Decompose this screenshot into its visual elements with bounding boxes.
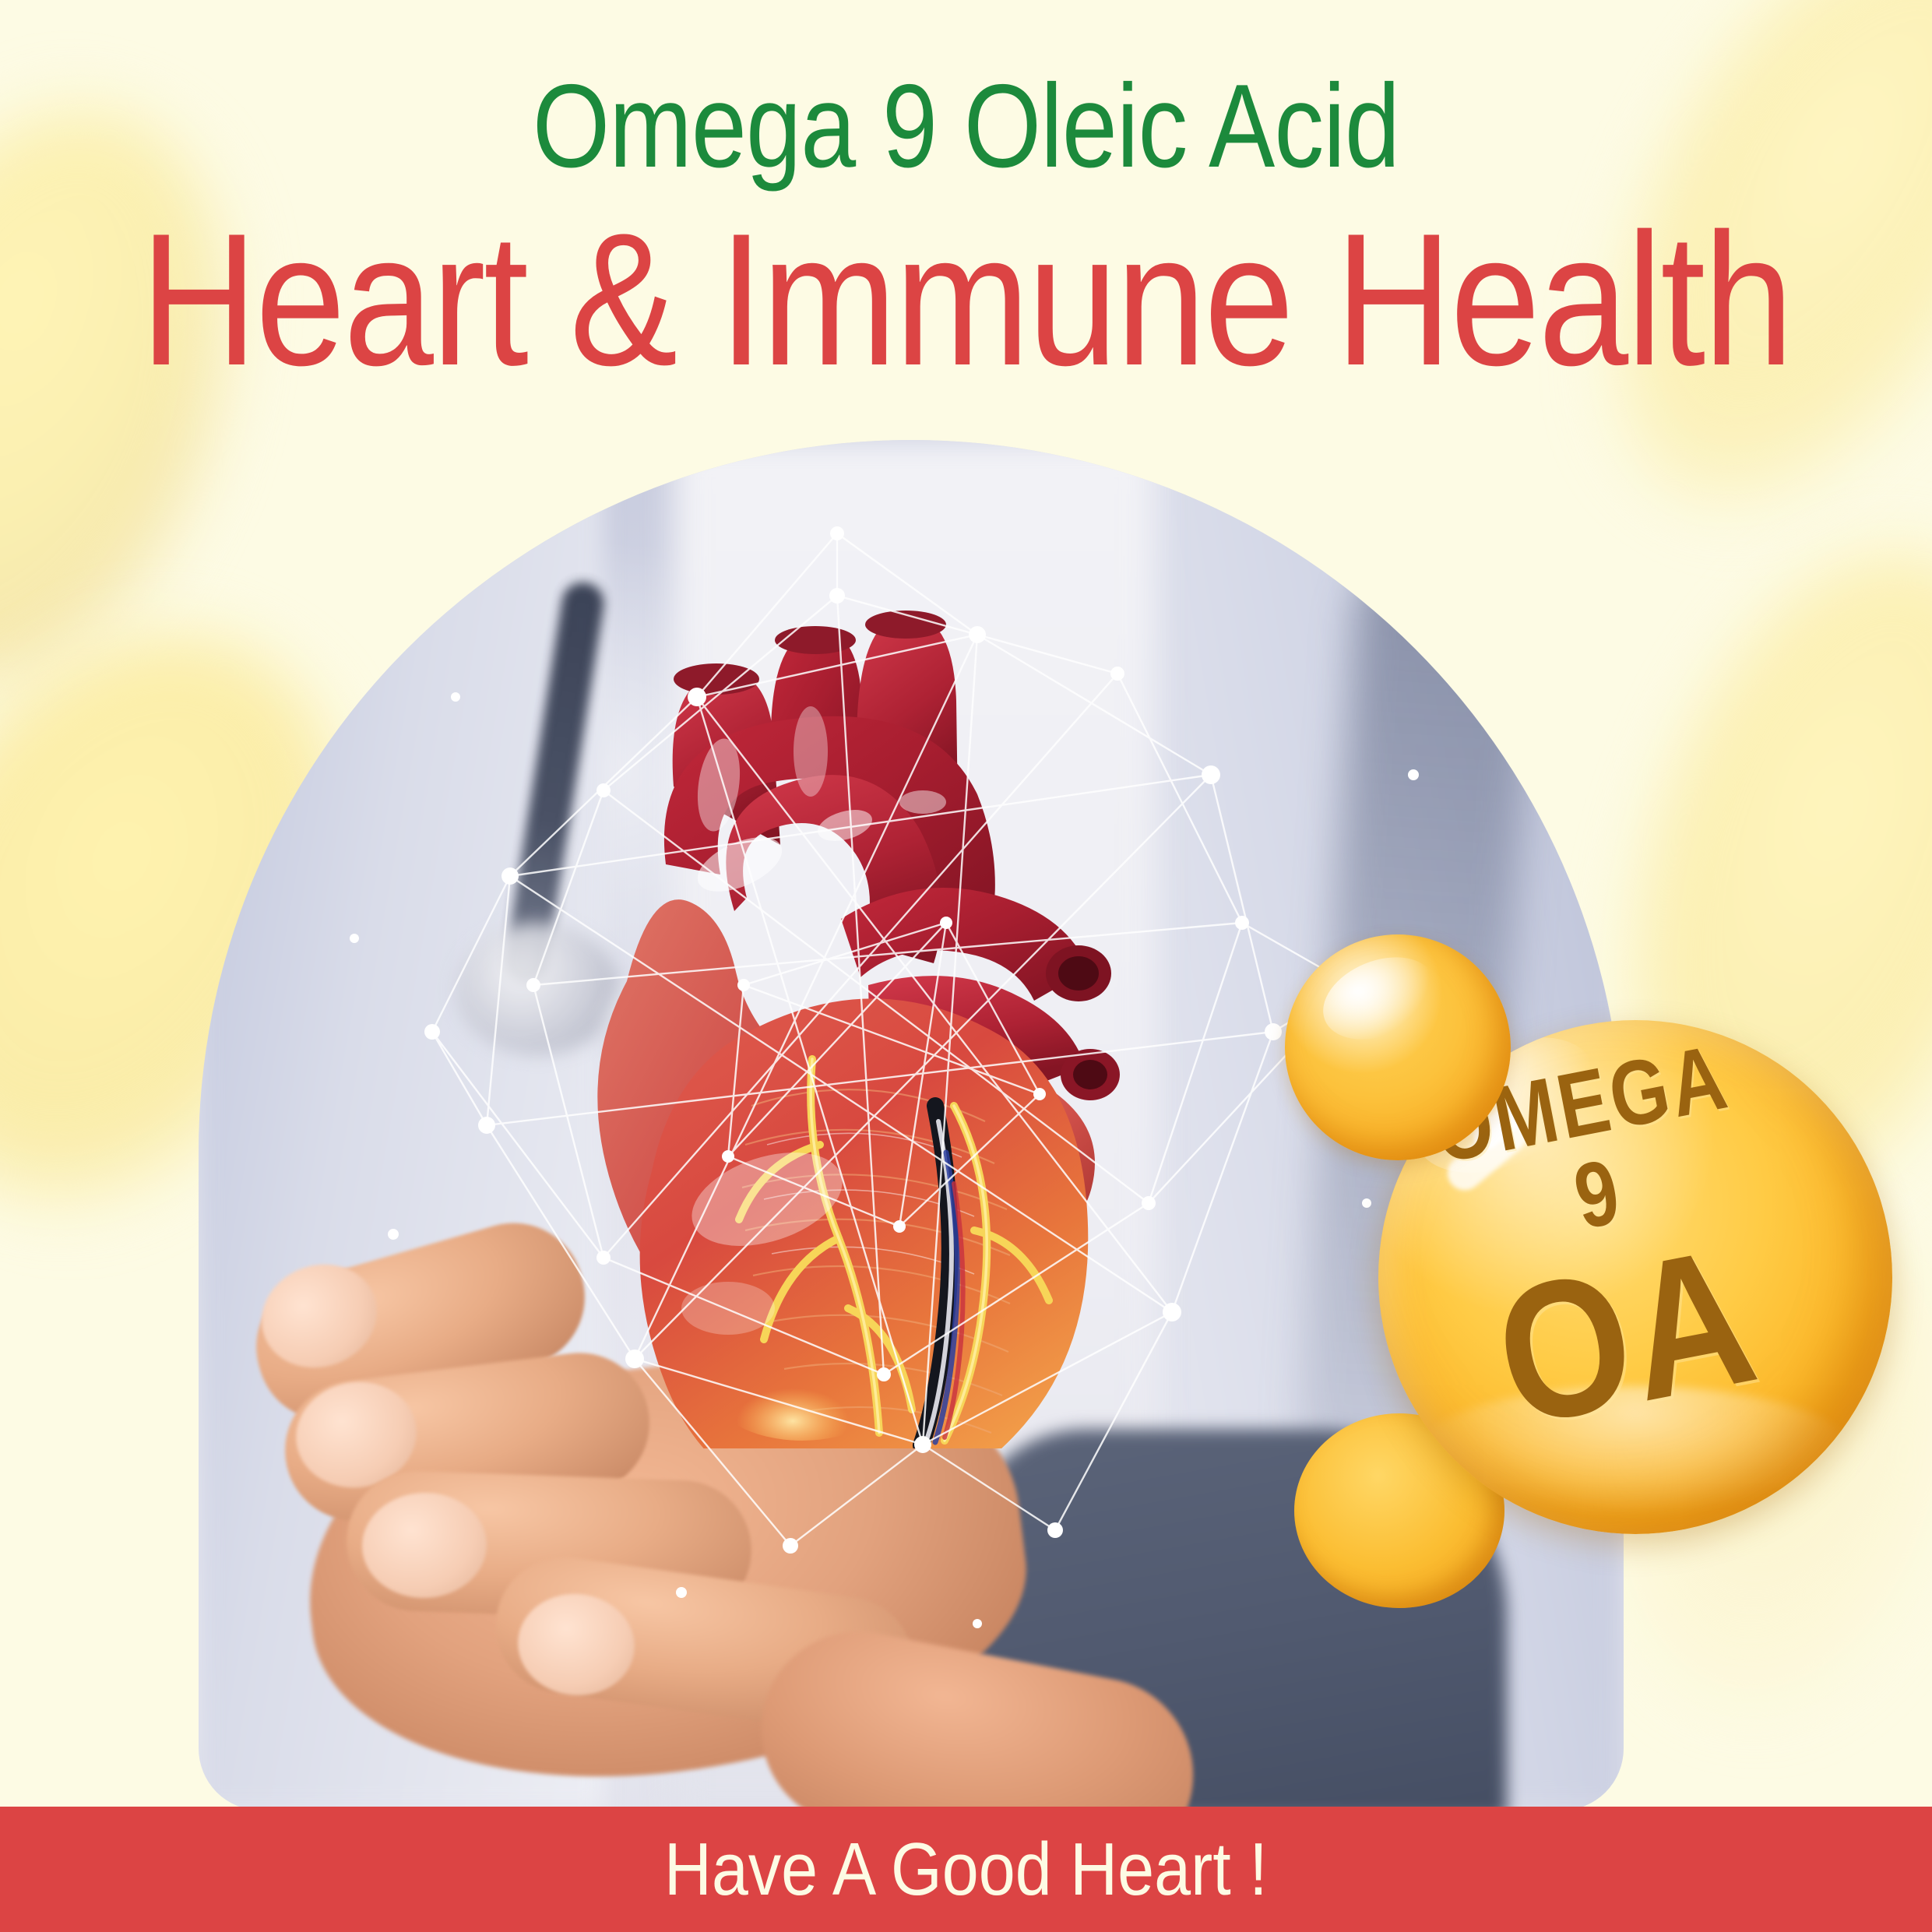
capsule-top-bubble-icon: [1285, 934, 1511, 1160]
capsule-rim-glow: [1417, 1386, 1853, 1519]
omega-capsule-badge: OMEGA 9 OA: [1277, 931, 1900, 1631]
kicker-title: Omega 9 Oleic Acid: [154, 67, 1777, 185]
tagline: Have A Good Heart !: [664, 1827, 1268, 1913]
bottom-banner: Have A Good Heart !: [0, 1807, 1932, 1932]
title-block: Omega 9 Oleic Acid Heart & Immune Health: [0, 0, 1932, 394]
poster-canvas: Omega 9 Oleic Acid Heart & Immune Health: [0, 0, 1932, 1932]
page-title: Heart & Immune Health: [135, 206, 1797, 394]
